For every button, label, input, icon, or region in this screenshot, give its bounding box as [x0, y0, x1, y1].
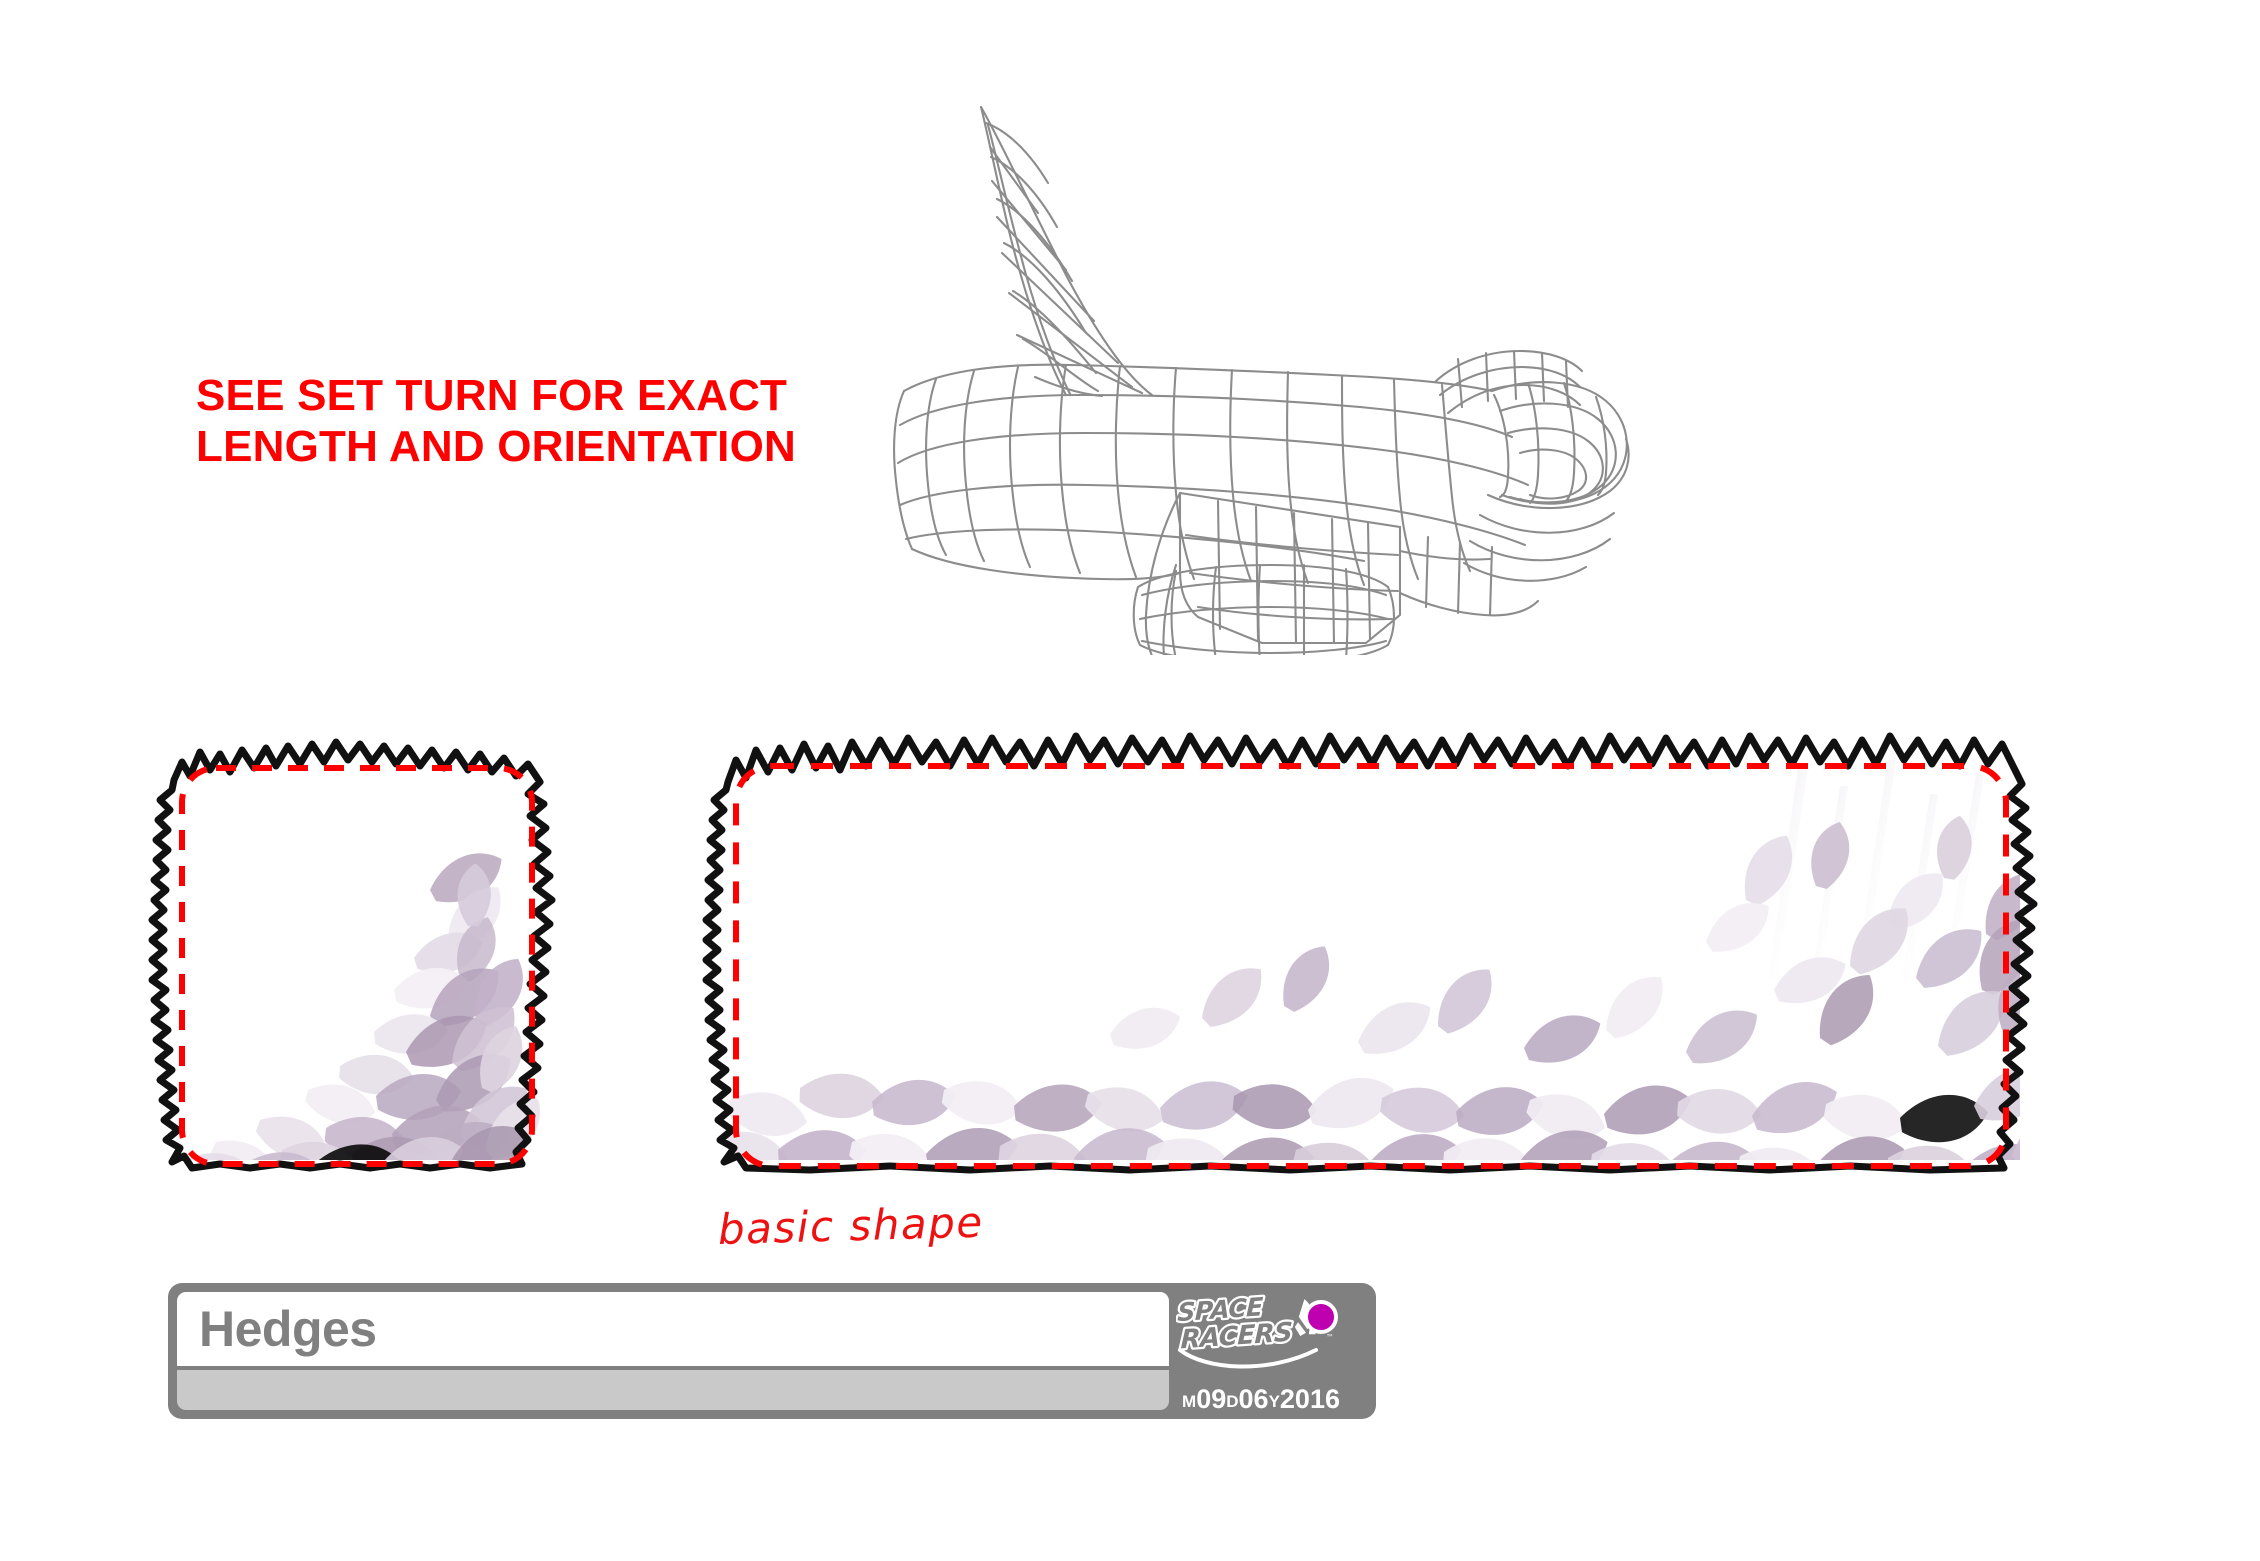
asset-name-field[interactable]: Hedges [177, 1292, 1169, 1366]
asset-name-value: Hedges [199, 1304, 377, 1354]
space-racers-logo: SPACE RACERS ™ [1176, 1294, 1344, 1372]
ship-wireframe-reference [880, 95, 1660, 655]
hedge-small-foliage [183, 841, 553, 1203]
instruction-note: SEE SET TURN FOR EXACT LENGTH AND ORIENT… [196, 370, 956, 472]
hedge-large-asset [690, 690, 2060, 1210]
lower-hull-mesh [912, 537, 1538, 615]
title-plate: Hedges SPACE RACERS ™ [168, 1283, 1376, 1419]
date-day: 06 [1239, 1384, 1269, 1414]
date-month: 09 [1196, 1384, 1226, 1414]
logo-trademark: ™ [1326, 1333, 1334, 1342]
date-year: 2016 [1280, 1384, 1340, 1414]
color-chip [1304, 1300, 1338, 1334]
hedge-large-foliage [702, 760, 2060, 1204]
date-year-label: Y [1269, 1392, 1280, 1411]
fuselage-mesh [894, 365, 1528, 585]
tail-fin-mesh [981, 107, 1152, 396]
title-plate-fields: Hedges [177, 1292, 1169, 1410]
asset-subtitle-field[interactable] [177, 1370, 1169, 1410]
date-month-label: M [1182, 1392, 1196, 1411]
nose-mesh [1464, 382, 1629, 581]
brand-block: SPACE RACERS ™ M09D06Y2016 [1169, 1292, 1367, 1410]
date-stamp: M09D06Y2016 [1182, 1384, 1340, 1415]
date-day-label: D [1226, 1392, 1238, 1411]
caption-basic-shape: basic shape [717, 1198, 984, 1254]
hedge-small-asset [130, 690, 590, 1210]
